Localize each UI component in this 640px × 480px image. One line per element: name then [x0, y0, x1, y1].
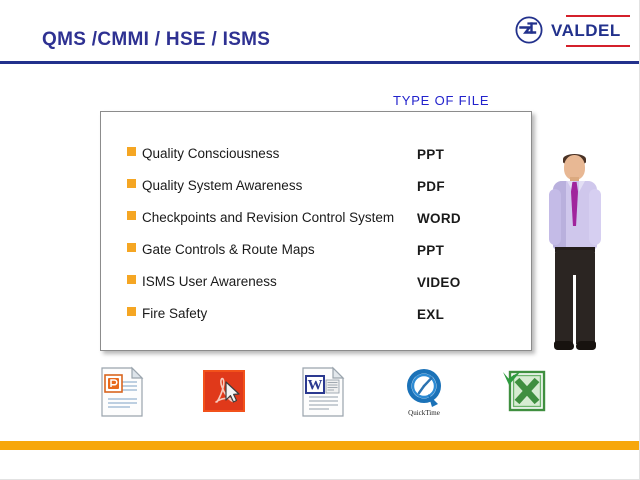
column-header-type-of-file: TYPE OF FILE	[393, 93, 489, 108]
list-item-label: Checkpoints and Revision Control System	[142, 210, 417, 226]
svg-text:W: W	[308, 378, 323, 394]
bullet-square-icon	[127, 275, 136, 284]
list-item-type: PPT	[417, 147, 444, 162]
bullet-square-icon	[127, 179, 136, 188]
bullet-square-icon	[127, 307, 136, 316]
list-item-label: Quality System Awareness	[142, 178, 417, 194]
footer-accent-bar	[0, 441, 640, 450]
photo-leg-gap	[573, 275, 576, 344]
quicktime-icon[interactable]: QuickTime	[394, 366, 454, 422]
logo-rule-top	[566, 15, 630, 17]
list-item: ISMS User Awareness VIDEO	[101, 266, 531, 298]
bullet-square-icon	[127, 243, 136, 252]
list-item-type: EXL	[417, 307, 444, 322]
powerpoint-file-icon[interactable]	[92, 366, 152, 422]
logo-rule-bottom	[566, 45, 630, 47]
list-item-type: WORD	[417, 211, 461, 226]
photo-shoe-left	[554, 341, 574, 350]
presentation-slide: QMS /CMMI / HSE / ISMS VALDEL TYPE OF FI…	[0, 0, 640, 480]
list-item: Gate Controls & Route Maps PPT	[101, 234, 531, 266]
list-item: Fire Safety EXL	[101, 298, 531, 330]
bullet-square-icon	[127, 211, 136, 220]
list-item: Quality Consciousness PPT	[101, 138, 531, 170]
footer-area	[0, 450, 640, 480]
list-item: Quality System Awareness PDF	[101, 170, 531, 202]
bullet-square-icon	[127, 147, 136, 156]
valdel-logo: VALDEL	[515, 12, 630, 50]
list-item-type: VIDEO	[417, 275, 461, 290]
list-item-label: Fire Safety	[142, 306, 417, 322]
businessman-photo	[536, 155, 614, 359]
content-card: Quality Consciousness PPT Quality System…	[100, 111, 532, 351]
header-divider	[0, 61, 640, 64]
file-type-icon-strip: W QuickTime	[0, 366, 640, 424]
word-file-icon[interactable]: W	[293, 366, 353, 422]
page-title: QMS /CMMI / HSE / ISMS	[42, 29, 270, 51]
list-item: Checkpoints and Revision Control System …	[101, 202, 531, 234]
list-item-label: Gate Controls & Route Maps	[142, 242, 417, 258]
list-item-type: PDF	[417, 179, 445, 194]
photo-shoe-right	[576, 341, 596, 350]
lt-monogram-icon	[515, 16, 543, 44]
adobe-acrobat-icon[interactable]	[192, 366, 252, 422]
excel-file-icon[interactable]	[494, 366, 554, 422]
list-item-label: Quality Consciousness	[142, 146, 417, 162]
logo-wordmark: VALDEL	[551, 21, 621, 41]
list-item-label: ISMS User Awareness	[142, 274, 417, 290]
icon-caption: QuickTime	[394, 409, 454, 417]
photo-arm-right	[589, 189, 601, 245]
photo-arm-left	[549, 189, 561, 245]
photo-collar-right	[579, 181, 585, 192]
file-list: Quality Consciousness PPT Quality System…	[101, 138, 531, 330]
list-item-type: PPT	[417, 243, 444, 258]
